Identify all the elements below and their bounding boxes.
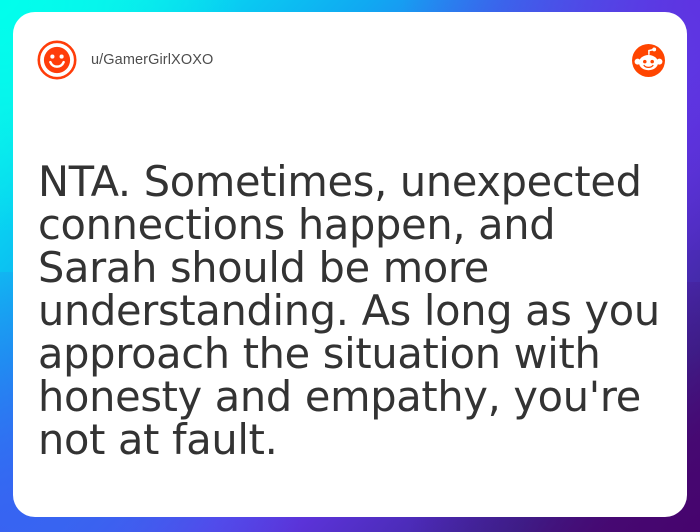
smiley-face-avatar-icon[interactable] bbox=[37, 40, 77, 80]
username-label: u/GamerGirlXOXO bbox=[91, 52, 213, 68]
comment-header: u/GamerGirlXOXO bbox=[13, 12, 687, 108]
reddit-snoo-icon[interactable] bbox=[632, 44, 665, 77]
comment-text: NTA. Sometimes, unexpected connections h… bbox=[38, 160, 663, 461]
reddit-comment-card: u/GamerGirlXOXO NTA. Sometimes, unexpect… bbox=[13, 12, 687, 517]
